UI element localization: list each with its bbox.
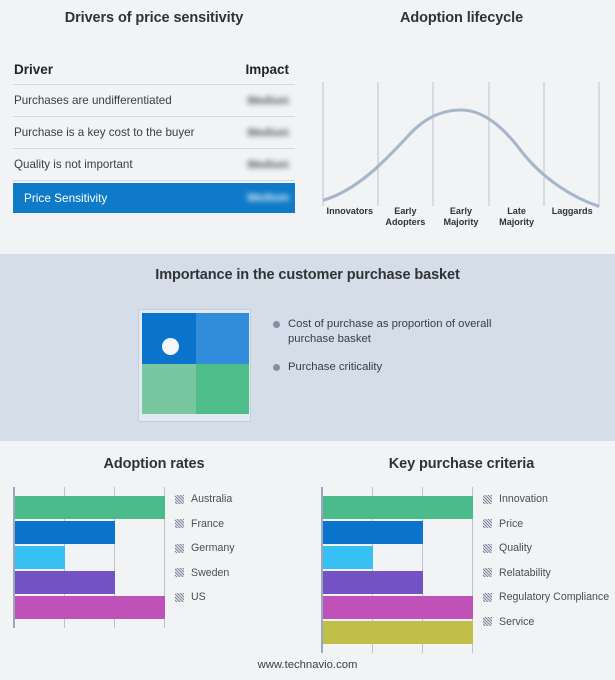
- quadrant-bottom-left: [142, 364, 196, 415]
- legend-label: Price: [499, 518, 523, 530]
- lifecycle-chart: Innovators Early Adopters Early Majority…: [322, 60, 600, 228]
- legend-swatch-icon: [175, 495, 184, 504]
- purchase-criteria-title: Key purchase criteria: [308, 456, 615, 472]
- legend-swatch-icon: [175, 544, 184, 553]
- lifecycle-bell-curve: [324, 110, 598, 206]
- quadrant-grid: [142, 313, 249, 414]
- legend-label: Germany: [191, 542, 235, 554]
- legend-item-quality[interactable]: Quality: [483, 536, 609, 561]
- bar-innovation[interactable]: [323, 496, 473, 519]
- criteria-bars: [323, 496, 473, 644]
- impact-value: Medium: [247, 159, 289, 171]
- legend-item: Purchase criticality: [273, 360, 573, 375]
- adoption-bars: [15, 496, 165, 619]
- legend-item-innovation[interactable]: Innovation: [483, 487, 609, 512]
- lifecycle-panel: Adoption lifecycle Innovators: [308, 0, 615, 254]
- plot-bottom-padding: [323, 644, 473, 653]
- table-row[interactable]: Quality is not important Medium: [13, 149, 295, 181]
- drivers-table-header: Driver Impact: [13, 62, 295, 85]
- purchase-criteria-panel: Key purchase criteria InnovationPriceQua…: [308, 441, 615, 680]
- legend-item-us[interactable]: US: [175, 585, 235, 610]
- segment-line2: Laggards: [544, 206, 600, 217]
- segment-line1: Early: [433, 206, 489, 217]
- adoption-plot-area: [13, 487, 165, 628]
- column-header-impact: Impact: [245, 62, 289, 77]
- legend-label: Relatability: [499, 567, 551, 579]
- legend-item-germany[interactable]: Germany: [175, 536, 235, 561]
- legend-swatch-icon: [483, 519, 492, 528]
- legend-item-regulatory-compliance[interactable]: Regulatory Compliance: [483, 585, 609, 610]
- legend-swatch-icon: [483, 617, 492, 626]
- bar-sweden[interactable]: [15, 571, 115, 594]
- quadrant-matrix: [138, 309, 251, 422]
- plot-top-padding: [15, 487, 165, 496]
- legend-swatch-icon: [175, 593, 184, 602]
- purchase-basket-panel: Importance in the customer purchase bask…: [0, 254, 615, 441]
- column-header-driver: Driver: [14, 62, 53, 77]
- lifecycle-segment-early-majority: Early Majority: [433, 206, 489, 228]
- legend-label: Australia: [191, 493, 232, 505]
- impact-value: Medium: [247, 95, 289, 107]
- drivers-panel: Drivers of price sensitivity Driver Impa…: [0, 0, 308, 254]
- segment-line2: Majority: [489, 217, 545, 228]
- lifecycle-gridlines: [323, 82, 599, 206]
- table-row[interactable]: Purchases are undifferentiated Medium: [13, 85, 295, 117]
- adoption-rates-panel: Adoption rates AustraliaFranceGermanySwe…: [0, 441, 308, 680]
- legend-swatch-icon: [483, 593, 492, 602]
- impact-value: Medium: [247, 127, 289, 139]
- adoption-rates-legend: AustraliaFranceGermanySwedenUS: [175, 487, 235, 610]
- segment-line2: Adopters: [378, 217, 434, 228]
- lifecycle-segment-labels: Innovators Early Adopters Early Majority…: [322, 206, 600, 228]
- footer-url: www.technavio.com: [0, 659, 615, 671]
- legend-swatch-icon: [483, 544, 492, 553]
- lifecycle-segment-late-majority: Late Majority: [489, 206, 545, 228]
- driver-label: Price Sensitivity: [24, 191, 107, 205]
- legend-item-australia[interactable]: Australia: [175, 487, 235, 512]
- legend-label: Quality: [499, 542, 532, 554]
- bar-us[interactable]: [15, 596, 165, 619]
- infographic-page: Drivers of price sensitivity Driver Impa…: [0, 0, 615, 680]
- adoption-rates-title: Adoption rates: [0, 456, 308, 472]
- adoption-rates-chart: [13, 487, 165, 628]
- impact-value: Medium: [247, 192, 289, 204]
- bullet-dot-icon: [273, 364, 280, 371]
- lifecycle-segment-early-adopters: Early Adopters: [378, 206, 434, 228]
- legend-swatch-icon: [175, 519, 184, 528]
- legend-item-france[interactable]: France: [175, 512, 235, 537]
- position-marker-icon: [162, 338, 179, 355]
- legend-item: Cost of purchase as proportion of overal…: [273, 317, 573, 346]
- segment-line2: Majority: [433, 217, 489, 228]
- table-row-highlighted[interactable]: Price Sensitivity Medium: [13, 183, 295, 213]
- lifecycle-curve-svg: [322, 60, 600, 228]
- bar-germany[interactable]: [15, 546, 65, 569]
- drivers-table: Driver Impact Purchases are undifferenti…: [13, 62, 295, 213]
- legend-swatch-icon: [483, 568, 492, 577]
- drivers-panel-title: Drivers of price sensitivity: [0, 10, 308, 26]
- legend-label: Cost of purchase as proportion of overal…: [288, 317, 498, 346]
- lifecycle-panel-title: Adoption lifecycle: [308, 10, 615, 26]
- purchase-criteria-chart: [321, 487, 473, 653]
- legend-label: Innovation: [499, 493, 548, 505]
- bar-quality[interactable]: [323, 546, 373, 569]
- criteria-plot-area: [321, 487, 473, 653]
- legend-label: Purchase criticality: [288, 360, 382, 375]
- purchase-basket-legend: Cost of purchase as proportion of overal…: [273, 317, 573, 389]
- legend-swatch-icon: [175, 568, 184, 577]
- driver-label: Purchases are undifferentiated: [14, 94, 172, 107]
- segment-line2: Innovators: [322, 206, 378, 217]
- legend-item-price[interactable]: Price: [483, 512, 609, 537]
- plot-top-padding: [323, 487, 473, 496]
- legend-label: Sweden: [191, 567, 229, 579]
- bar-service[interactable]: [323, 621, 473, 644]
- legend-label: France: [191, 518, 224, 530]
- driver-label: Purchase is a key cost to the buyer: [14, 126, 194, 139]
- legend-swatch-icon: [483, 495, 492, 504]
- bar-australia[interactable]: [15, 496, 165, 519]
- legend-item-sweden[interactable]: Sweden: [175, 561, 235, 586]
- legend-label: Regulatory Compliance: [499, 591, 609, 603]
- lifecycle-segment-laggards: Laggards: [544, 206, 600, 228]
- legend-label: US: [191, 591, 206, 603]
- bar-price[interactable]: [323, 521, 423, 544]
- segment-line1: Late: [489, 206, 545, 217]
- driver-label: Quality is not important: [14, 158, 133, 171]
- legend-label: Service: [499, 616, 534, 628]
- bullet-dot-icon: [273, 321, 280, 328]
- plot-bottom-padding: [15, 619, 165, 628]
- legend-item-relatability[interactable]: Relatability: [483, 561, 609, 586]
- lifecycle-segment-innovators: Innovators: [322, 206, 378, 228]
- bar-france[interactable]: [15, 521, 115, 544]
- purchase-criteria-legend: InnovationPriceQualityRelatabilityRegula…: [483, 487, 609, 634]
- table-row[interactable]: Purchase is a key cost to the buyer Medi…: [13, 117, 295, 149]
- purchase-basket-title: Importance in the customer purchase bask…: [0, 267, 615, 283]
- bar-relatability[interactable]: [323, 571, 423, 594]
- quadrant-top-right: [196, 313, 250, 364]
- bar-regulatory-compliance[interactable]: [323, 596, 473, 619]
- segment-line1: Early: [378, 206, 434, 217]
- quadrant-bottom-right: [196, 364, 250, 415]
- legend-item-service[interactable]: Service: [483, 610, 609, 635]
